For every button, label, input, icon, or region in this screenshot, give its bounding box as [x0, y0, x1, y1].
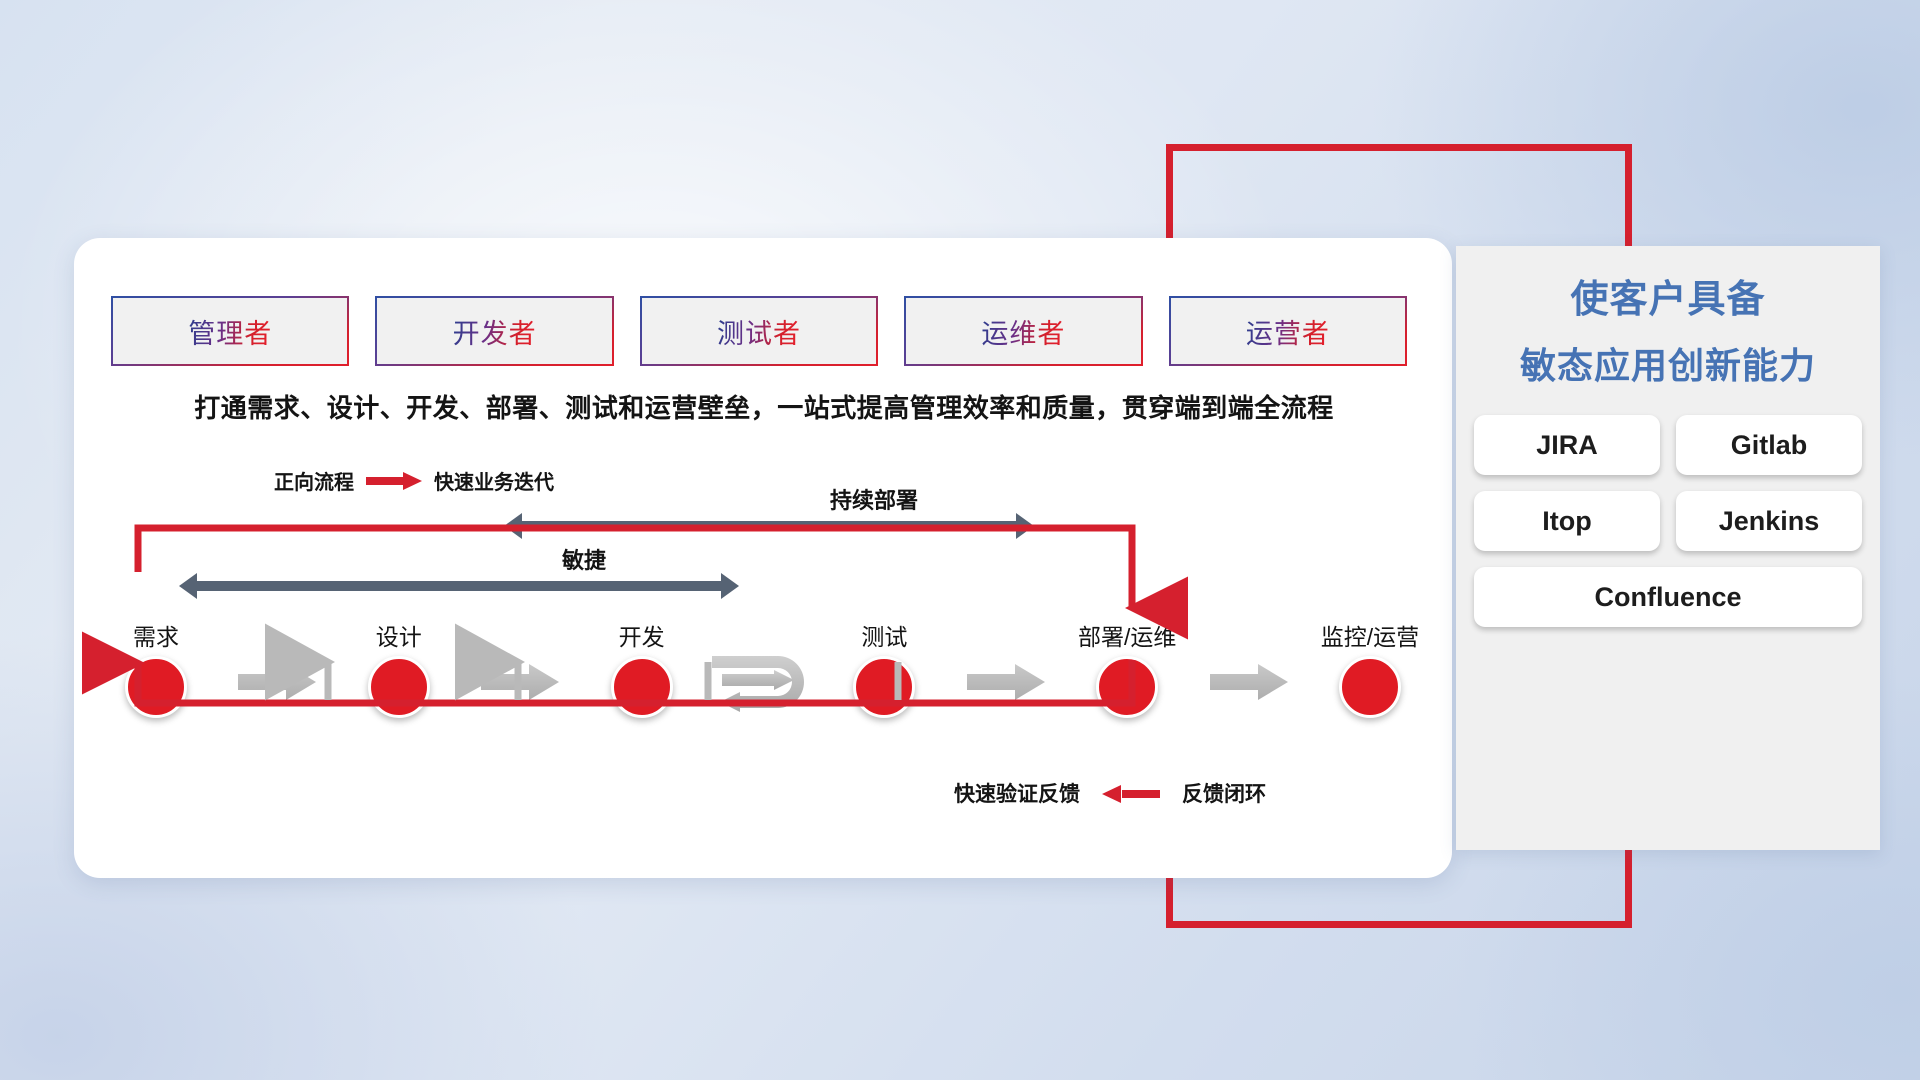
role-box-tester[interactable]: 测试者 — [640, 296, 878, 366]
pipeline-stage-deploy-ops[interactable]: 部署/运维 — [1081, 618, 1173, 718]
connector-u-turn-arrow — [688, 624, 839, 712]
tool-chip-itop[interactable]: Itop — [1474, 491, 1660, 551]
role-box-developer[interactable]: 开发者 — [375, 296, 613, 366]
tool-chip-label: JIRA — [1536, 430, 1598, 461]
role-box-manager[interactable]: 管理者 — [111, 296, 349, 366]
block-arrow-right-icon — [967, 662, 1045, 702]
stage-label: 测试 — [861, 618, 907, 652]
stage-dot-icon — [368, 656, 430, 718]
arrow-head-right-icon — [1016, 513, 1034, 539]
block-arrow-right-icon — [1210, 662, 1288, 702]
forward-flow-legend: 正向流程 快速业务迭代 — [274, 466, 554, 495]
tool-chip-label: Itop — [1542, 506, 1591, 537]
tool-chip-jenkins[interactable]: Jenkins — [1676, 491, 1862, 551]
role-label: 测试者 — [717, 312, 801, 351]
red-arrow-left-icon — [1102, 785, 1160, 802]
feedback-loop-legend: 快速验证反馈 反馈闭环 — [954, 778, 1266, 808]
stage-label: 设计 — [376, 618, 422, 652]
tool-chip-label: Gitlab — [1731, 430, 1808, 461]
stage-dot-icon — [611, 656, 673, 718]
arrow-head-right-icon — [721, 573, 739, 599]
connector-block-arrow-1 — [202, 634, 353, 702]
role-box-ops[interactable]: 运维者 — [904, 296, 1142, 366]
tool-chip-grid: JIRA Gitlab Itop Jenkins Confluence — [1474, 415, 1862, 627]
role-box-operations[interactable]: 运营者 — [1169, 296, 1407, 366]
pipeline-stage-development[interactable]: 开发 — [596, 618, 688, 718]
red-arrow-right-icon — [366, 472, 422, 489]
pipeline-stage-monitor-operations[interactable]: 监控/运营 — [1324, 618, 1416, 718]
fast-iteration-label: 快速业务迭代 — [434, 466, 554, 495]
role-label: 运营者 — [1246, 312, 1330, 351]
pipeline-stage-testing[interactable]: 测试 — [838, 618, 930, 718]
tool-chip-label: Confluence — [1594, 582, 1741, 613]
role-label: 运维者 — [981, 312, 1065, 351]
double-arrow-continuous-deployment — [504, 513, 1034, 539]
tool-chip-jira[interactable]: JIRA — [1474, 415, 1660, 475]
forward-flow-label: 正向流程 — [274, 466, 354, 495]
stage-dot-icon — [1339, 656, 1401, 718]
pipeline-stage-design[interactable]: 设计 — [353, 618, 445, 718]
stage-dot-icon — [125, 656, 187, 718]
stage-label: 部署/运维 — [1078, 618, 1176, 652]
band-label-agile: 敏捷 — [504, 543, 664, 575]
feedback-closed-loop-label: 反馈闭环 — [1182, 778, 1266, 808]
arrow-shaft — [520, 521, 1018, 531]
stage-label: 开发 — [619, 618, 665, 652]
stage-dot-icon — [853, 656, 915, 718]
tool-chip-confluence[interactable]: Confluence — [1474, 567, 1862, 627]
block-arrow-right-icon — [481, 662, 559, 702]
connector-block-arrow-4 — [1173, 634, 1324, 702]
pipeline-row: 需求 设计 开发 — [110, 603, 1416, 733]
arrow-shaft — [195, 581, 723, 591]
stage-label: 需求 — [133, 618, 179, 652]
fast-validation-label: 快速验证反馈 — [954, 778, 1080, 808]
band-label-continuous-deployment: 持续部署 — [764, 483, 984, 515]
block-arrow-right-icon — [238, 662, 316, 702]
role-label: 管理者 — [188, 312, 272, 351]
stage-dot-icon — [1096, 656, 1158, 718]
role-box-row: 管理者 开发者 测试者 运维者 运营者 — [111, 296, 1407, 366]
headline-text: 打通需求、设计、开发、部署、测试和运营壁垒，一站式提高管理效率和质量，贯穿端到端… — [114, 388, 1414, 425]
u-turn-arrow-icon — [712, 652, 814, 712]
role-label: 开发者 — [453, 312, 537, 351]
double-arrow-agile — [179, 573, 739, 599]
devops-flow-card: 管理者 开发者 测试者 运维者 运营者 打通需求、设计、开发、部署、测试和运营壁… — [74, 238, 1452, 878]
stage-label: 监控/运营 — [1321, 618, 1419, 652]
panel-title-line2: 敏态应用创新能力 — [1456, 337, 1880, 389]
panel-title: 使客户具备 敏态应用创新能力 — [1456, 246, 1880, 389]
value-proposition-panel: 使客户具备 敏态应用创新能力 JIRA Gitlab Itop Jenkins … — [1456, 246, 1880, 850]
tool-chip-label: Jenkins — [1719, 506, 1820, 537]
pipeline-stage-requirements[interactable]: 需求 — [110, 618, 202, 718]
connector-block-arrow-3 — [930, 634, 1081, 702]
red-bracket-bottom-edge — [1166, 921, 1632, 928]
tool-chip-gitlab[interactable]: Gitlab — [1676, 415, 1862, 475]
panel-title-line1: 使客户具备 — [1456, 268, 1880, 323]
connector-block-arrow-2 — [445, 634, 596, 702]
